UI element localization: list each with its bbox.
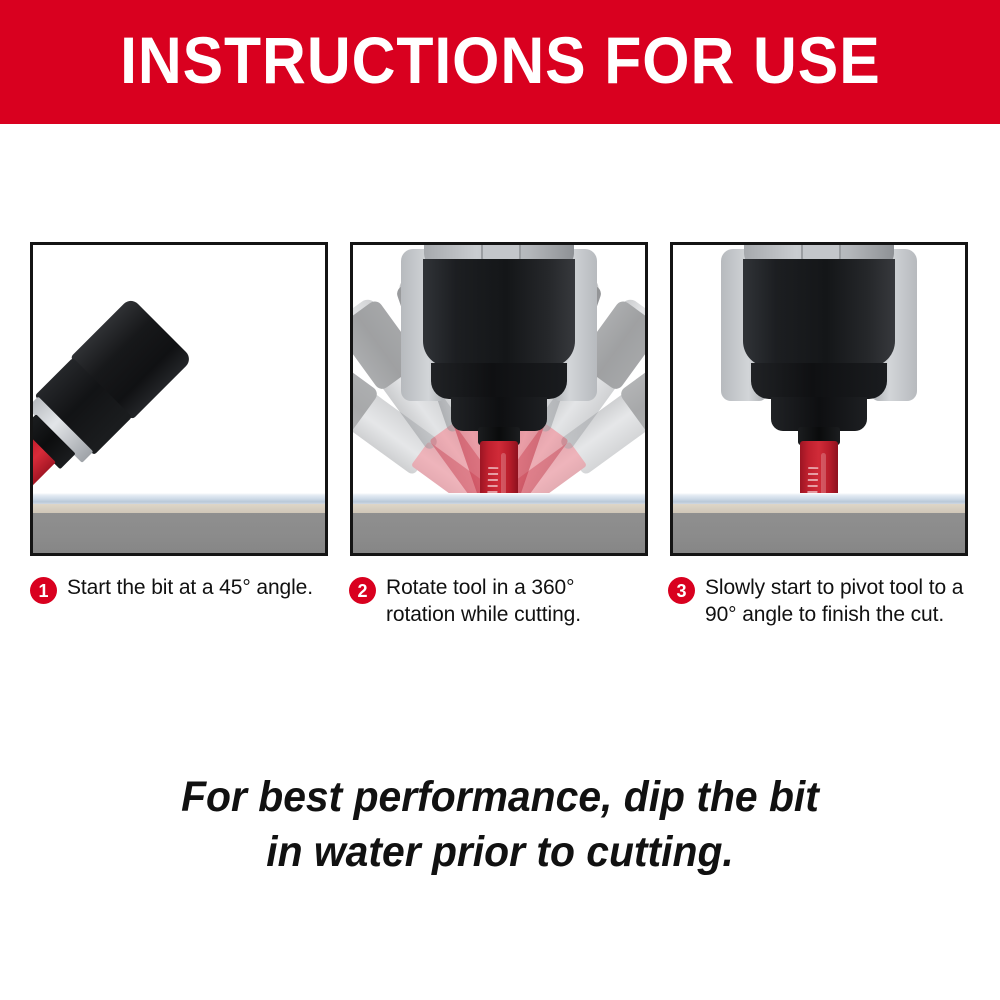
step-text-2: Rotate tool in a 360° rotation while cut… <box>386 574 649 629</box>
illustration-panel-row <box>30 242 968 558</box>
panel-step-3-artwork <box>673 245 965 553</box>
tile-body <box>673 513 965 553</box>
panel-step-2-artwork <box>353 245 645 553</box>
tool-grip <box>423 259 575 367</box>
panel-step-2 <box>350 242 648 556</box>
tile-glaze-edge <box>33 493 325 504</box>
tile-body-edge <box>353 504 645 513</box>
tagline-line-1: For best performance, dip the bit <box>25 770 975 825</box>
tile-body <box>353 513 645 553</box>
step-item-3: 3 Slowly start to pivot tool to a 90° an… <box>668 574 968 629</box>
tile-surface <box>353 493 645 553</box>
tool-nose-taper <box>451 397 547 431</box>
step-caption-row: 1 Start the bit at a 45° angle. 2 Rotate… <box>30 574 968 629</box>
step-text-1: Start the bit at a 45° angle. <box>67 574 313 601</box>
tile-surface <box>673 493 965 553</box>
page-title: INSTRUCTIONS FOR USE <box>120 27 881 93</box>
tool-grip <box>743 259 895 367</box>
panel-step-1 <box>30 242 328 556</box>
tool-band <box>431 363 567 399</box>
step-number-badge-1: 1 <box>30 577 57 604</box>
step-item-1: 1 Start the bit at a 45° angle. <box>30 574 330 629</box>
tagline-line-2: in water prior to cutting. <box>25 825 975 880</box>
tagline: For best performance, dip the bit in wat… <box>25 770 975 880</box>
tile-body <box>33 513 325 553</box>
step-number-badge-2: 2 <box>349 577 376 604</box>
step-item-2: 2 Rotate tool in a 360° rotation while c… <box>349 574 649 629</box>
panel-step-3 <box>670 242 968 556</box>
tile-body-edge <box>673 504 965 513</box>
tool-nose-taper <box>771 397 867 431</box>
header-banner: INSTRUCTIONS FOR USE <box>0 0 1000 124</box>
step-number-badge-3: 3 <box>668 577 695 604</box>
step-text-3: Slowly start to pivot tool to a 90° angl… <box>705 574 968 629</box>
tile-glaze-edge <box>353 493 645 504</box>
tile-glaze-edge <box>673 493 965 504</box>
tool-band <box>751 363 887 399</box>
tile-surface <box>33 493 325 553</box>
tile-body-edge <box>33 504 325 513</box>
panel-step-1-artwork <box>33 245 325 553</box>
